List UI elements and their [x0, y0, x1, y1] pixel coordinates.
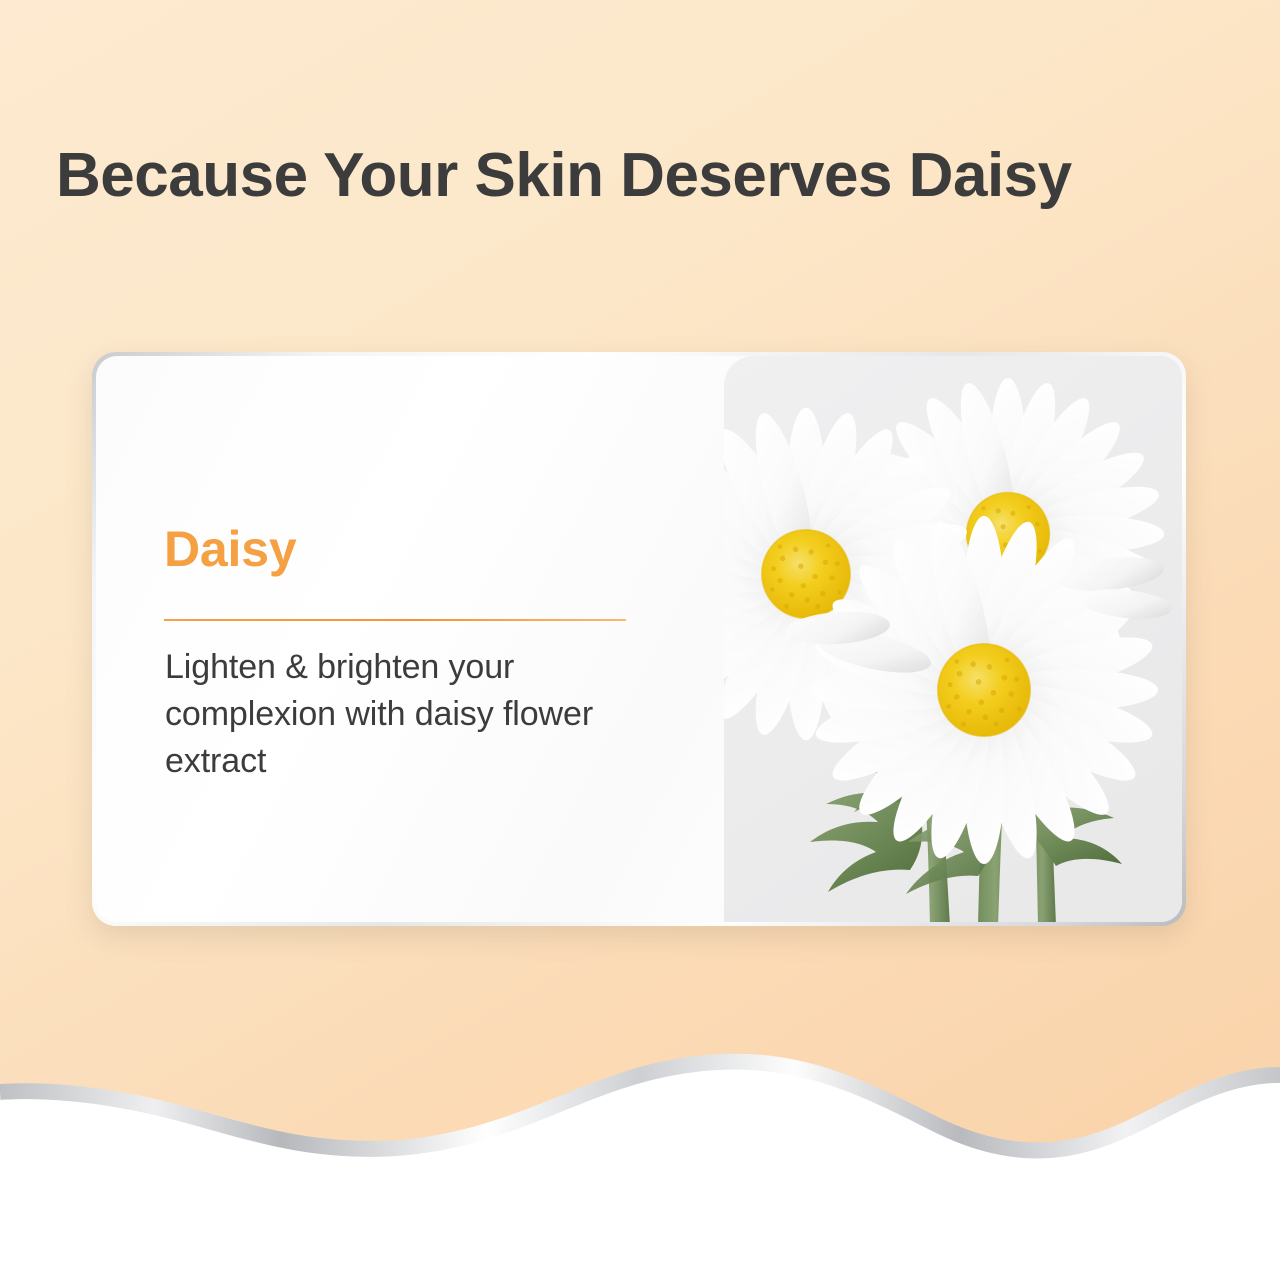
- ingredient-title: Daisy: [164, 524, 296, 574]
- ingredient-description: Lighten & brighten your complexion with …: [165, 644, 635, 785]
- poster-canvas: Because Your Skin Deserves Daisy: [0, 0, 1280, 1280]
- page-title: Because Your Skin Deserves Daisy: [56, 143, 1226, 208]
- daisy-image-panel: [724, 356, 1182, 922]
- daisy-flowers-photo: [724, 356, 1182, 922]
- ingredient-card: Daisy Lighten & brighten your complexion…: [92, 352, 1186, 926]
- title-divider: [164, 619, 626, 621]
- ingredient-card-inner: Daisy Lighten & brighten your complexion…: [96, 356, 1182, 922]
